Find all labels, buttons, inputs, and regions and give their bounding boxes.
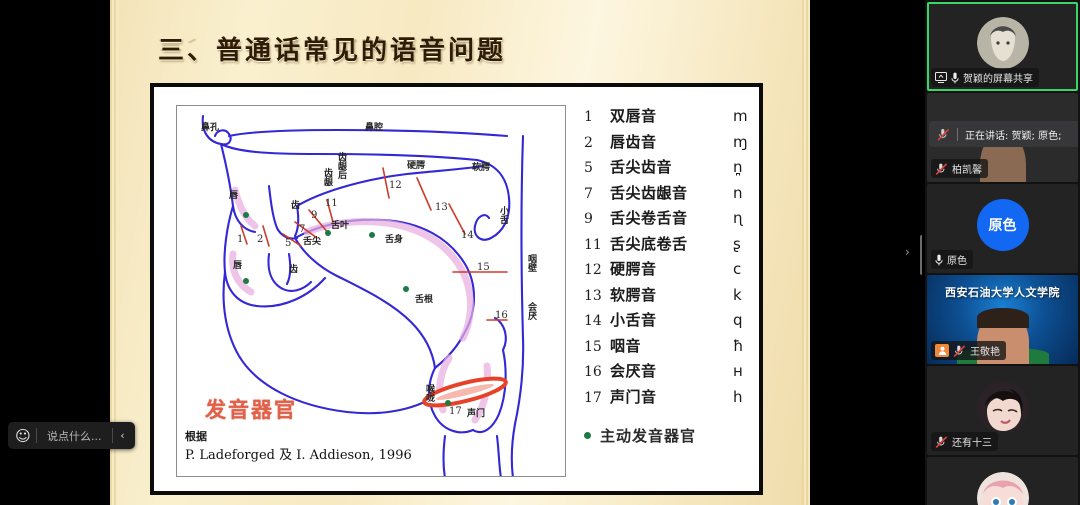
legend-ipa-symbol: ɱ xyxy=(733,133,759,151)
legend-number: 2 xyxy=(584,135,610,151)
active-articulator-dot-icon xyxy=(403,286,409,292)
diagram-title: 发音器官 xyxy=(205,394,297,424)
tile-name-badge: 柏凯馨 xyxy=(931,159,988,178)
active-articulator-dot-icon xyxy=(243,212,249,218)
chat-input-bar[interactable]: ☺ 说点什么... ‹ xyxy=(8,422,135,449)
mic-muted-icon xyxy=(935,436,948,448)
legend-row: 16会厌音ʜ xyxy=(584,360,759,386)
participant-name: 王敬艳 xyxy=(970,343,1000,358)
legend-number: 14 xyxy=(584,313,610,329)
presentation-slide: 三、普通话常见的语音问题 三、普通话常见的语音问题 xyxy=(110,0,810,505)
participant-roster[interactable]: 贺颖的屏幕共享 正在讲话: 贺颖; 原色; 柏凯馨 xyxy=(925,0,1080,505)
active-articulator-dot-icon xyxy=(445,400,451,406)
legend-row: 15咽音ħ xyxy=(584,335,759,361)
legend-ipa-symbol: c xyxy=(733,260,759,278)
participant-tile-yuanse[interactable]: 原色 原色 xyxy=(927,184,1078,273)
diagram-number: 14 xyxy=(461,230,474,241)
shared-screen-area[interactable]: 三、普通话常见的语音问题 三、普通话常见的语音问题 xyxy=(0,0,922,505)
legend-label: 舌尖底卷舌 xyxy=(610,233,733,254)
legend-number: 15 xyxy=(584,339,610,355)
diagram-label: 鼻腔 xyxy=(365,120,383,133)
legend-row: 14小舌音q xyxy=(584,309,759,335)
active-articulator-dot-icon xyxy=(325,230,331,236)
legend-number: 1 xyxy=(584,109,610,125)
diagram-label: 齿 xyxy=(289,262,298,275)
diagram-label: 舌尖 xyxy=(303,234,321,247)
legend-label: 舌尖齿音 xyxy=(610,156,733,177)
legend-row: 12硬腭音c xyxy=(584,258,759,284)
articulation-legend-list: 1双唇音m2唇齿音ɱ5舌尖齿音n̪7舌尖齿龈音n9舌尖卷舌音ɳ11舌尖底卷舌ʂ1… xyxy=(584,105,759,411)
diagram-label: 唇 xyxy=(229,188,238,201)
legend-ipa-symbol: ʂ xyxy=(733,235,759,253)
diagram-number: 17 xyxy=(449,406,462,417)
legend-number: 13 xyxy=(584,288,610,304)
legend-number: 5 xyxy=(584,160,610,176)
diagram-number: 5 xyxy=(285,238,291,249)
participant-name: 柏凯馨 xyxy=(952,161,982,176)
legend-number: 9 xyxy=(584,211,610,227)
mic-icon xyxy=(951,72,959,84)
slide-title: 三、普通话常见的语音问题 xyxy=(158,30,506,67)
diagram-label: 舌根 xyxy=(415,292,433,305)
diagram-number: 15 xyxy=(477,262,490,273)
active-articulator-dot-icon xyxy=(369,232,375,238)
legend-ipa-symbol: m xyxy=(733,107,759,125)
legend-label: 硬腭音 xyxy=(610,258,733,279)
legend-label: 唇齿音 xyxy=(610,131,733,152)
legend-ipa-symbol: n̪ xyxy=(733,158,759,176)
legend-ipa-symbol: ħ xyxy=(733,337,759,355)
legend-label: 双唇音 xyxy=(610,105,733,126)
legend-footer: 主动发音器官 xyxy=(584,425,696,446)
avatar xyxy=(977,381,1029,433)
slide-content-panel: 鼻孔鼻腔硬腭软腭齿龈后齿龈唇齿唇齿舌叶舌尖舌身舌根小舌咽壁会厌喉咙声门 1257… xyxy=(154,87,759,491)
diagram-label: 会厌 xyxy=(525,302,538,320)
initials-avatar: 原色 xyxy=(977,199,1029,251)
diagram-credit-prefix: 根据 xyxy=(185,428,207,444)
diagram-number: 16 xyxy=(495,310,508,321)
legend-row: 5舌尖齿音n̪ xyxy=(584,156,759,182)
diagram-number: 7 xyxy=(299,224,305,235)
diagram-number: 13 xyxy=(435,202,448,213)
participant-tile-wangjingyan[interactable]: 西安石油大学人文学院 王敬艳 xyxy=(927,275,1078,364)
legend-ipa-symbol: ɳ xyxy=(733,209,759,227)
legend-label: 舌尖齿龈音 xyxy=(610,182,733,203)
legend-label: 咽音 xyxy=(610,335,733,356)
tile-name-badge: 还有十三 xyxy=(931,432,998,451)
meeting-screen: 三、普通话常见的语音问题 三、普通话常见的语音问题 xyxy=(0,0,1080,505)
diagram-number: 9 xyxy=(311,210,317,221)
legend-row: 11舌尖底卷舌ʂ xyxy=(584,233,759,259)
chat-collapse-chevron-icon[interactable]: ‹ xyxy=(113,423,133,449)
legend-number: 12 xyxy=(584,262,610,278)
speaking-toast: 正在讲话: 贺颖; 原色; xyxy=(929,121,1078,147)
diagram-label: 舌叶 xyxy=(331,218,349,231)
vocal-tract-diagram: 鼻孔鼻腔硬腭软腭齿龈后齿龈唇齿唇齿舌叶舌尖舌身舌根小舌咽壁会厌喉咙声门 1257… xyxy=(176,105,566,477)
diagram-label: 咽壁 xyxy=(525,254,538,272)
legend-label: 小舌音 xyxy=(610,309,733,330)
diagram-label: 鼻孔 xyxy=(201,120,219,133)
legend-number: 7 xyxy=(584,186,610,202)
participant-name: 贺颖的屏幕共享 xyxy=(963,70,1033,85)
legend-number: 17 xyxy=(584,390,610,406)
legend-row: 7舌尖齿龈音n xyxy=(584,182,759,208)
avatar xyxy=(977,17,1029,69)
participant-tile-bokaixin[interactable]: 正在讲话: 贺颖; 原色; 柏凯馨 xyxy=(927,93,1078,182)
screen-share-icon xyxy=(935,72,947,83)
chat-input[interactable]: 说点什么... xyxy=(37,428,112,444)
tile-name-badge: 贺颖的屏幕共享 xyxy=(931,68,1039,87)
legend-row: 17声门音h xyxy=(584,386,759,412)
legend-ipa-symbol: k xyxy=(733,286,759,304)
diagram-number: 12 xyxy=(389,180,402,191)
roster-scrollbar[interactable] xyxy=(920,235,922,275)
diagram-label: 小舌 xyxy=(497,206,510,224)
legend-number: 11 xyxy=(584,237,610,253)
diagram-label: 舌身 xyxy=(385,232,403,245)
participant-name: 原色 xyxy=(947,252,967,267)
avatar xyxy=(977,472,1029,505)
legend-footer-label: 主动发音器官 xyxy=(600,425,696,446)
smiley-icon[interactable]: ☺ xyxy=(10,423,36,449)
legend-number: 16 xyxy=(584,364,610,380)
diagram-number: 1 xyxy=(237,234,243,245)
legend-ipa-symbol: h xyxy=(733,388,759,406)
diagram-number: 11 xyxy=(325,198,338,209)
diagram-label: 软腭 xyxy=(472,160,490,173)
diagram-label: 喉咙 xyxy=(423,384,436,402)
green-dot-icon xyxy=(584,432,591,439)
diagram-label: 齿 xyxy=(291,198,300,211)
speaking-status-text: 正在讲话: 贺颖; 原色; xyxy=(965,127,1061,142)
legend-ipa-symbol: n xyxy=(733,184,759,202)
mic-muted-icon xyxy=(935,163,948,175)
participant-tile-screenshare[interactable]: 贺颖的屏幕共享 xyxy=(927,2,1078,91)
tile-name-badge: 原色 xyxy=(931,250,973,269)
tile-name-badge: 王敬艳 xyxy=(931,341,1006,360)
divider xyxy=(957,128,958,141)
participant-tile-partial[interactable] xyxy=(927,457,1078,505)
legend-row: 2唇齿音ɱ xyxy=(584,131,759,157)
video-banner-text: 西安石油大学人文学院 xyxy=(927,284,1078,300)
host-icon xyxy=(935,344,949,357)
diagram-label: 唇 xyxy=(233,258,242,271)
participant-name: 还有十三 xyxy=(952,434,992,449)
legend-label: 会厌音 xyxy=(610,360,733,381)
participant-tile-haiyoushisan[interactable]: 还有十三 xyxy=(927,366,1078,455)
mic-icon xyxy=(935,254,943,266)
diagram-label: 声门 xyxy=(467,406,485,419)
roster-expand-chevron-icon[interactable]: › xyxy=(905,245,910,259)
legend-ipa-symbol: ʜ xyxy=(733,362,759,380)
legend-label: 声门音 xyxy=(610,386,733,407)
slide-content-frame: 鼻孔鼻腔硬腭软腭齿龈后齿龈唇齿唇齿舌叶舌尖舌身舌根小舌咽壁会厌喉咙声门 1257… xyxy=(150,83,763,495)
mic-muted-icon xyxy=(937,128,950,141)
legend-row: 1双唇音m xyxy=(584,105,759,131)
diagram-credit-source: P. Ladeforged 及 I. Addieson, 1996 xyxy=(185,444,412,463)
legend-label: 软腭音 xyxy=(610,284,733,305)
active-articulator-dot-icon xyxy=(243,278,249,284)
legend-label: 舌尖卷舌音 xyxy=(610,207,733,228)
diagram-label: 齿龈 xyxy=(321,168,334,186)
legend-row: 13软腭音k xyxy=(584,284,759,310)
diagram-number: 2 xyxy=(257,234,263,245)
legend-row: 9舌尖卷舌音ɳ xyxy=(584,207,759,233)
diagram-label: 硬腭 xyxy=(407,158,425,171)
diagram-label: 齿龈后 xyxy=(335,152,348,179)
legend-ipa-symbol: q xyxy=(733,311,759,329)
mic-muted-icon xyxy=(953,345,966,357)
